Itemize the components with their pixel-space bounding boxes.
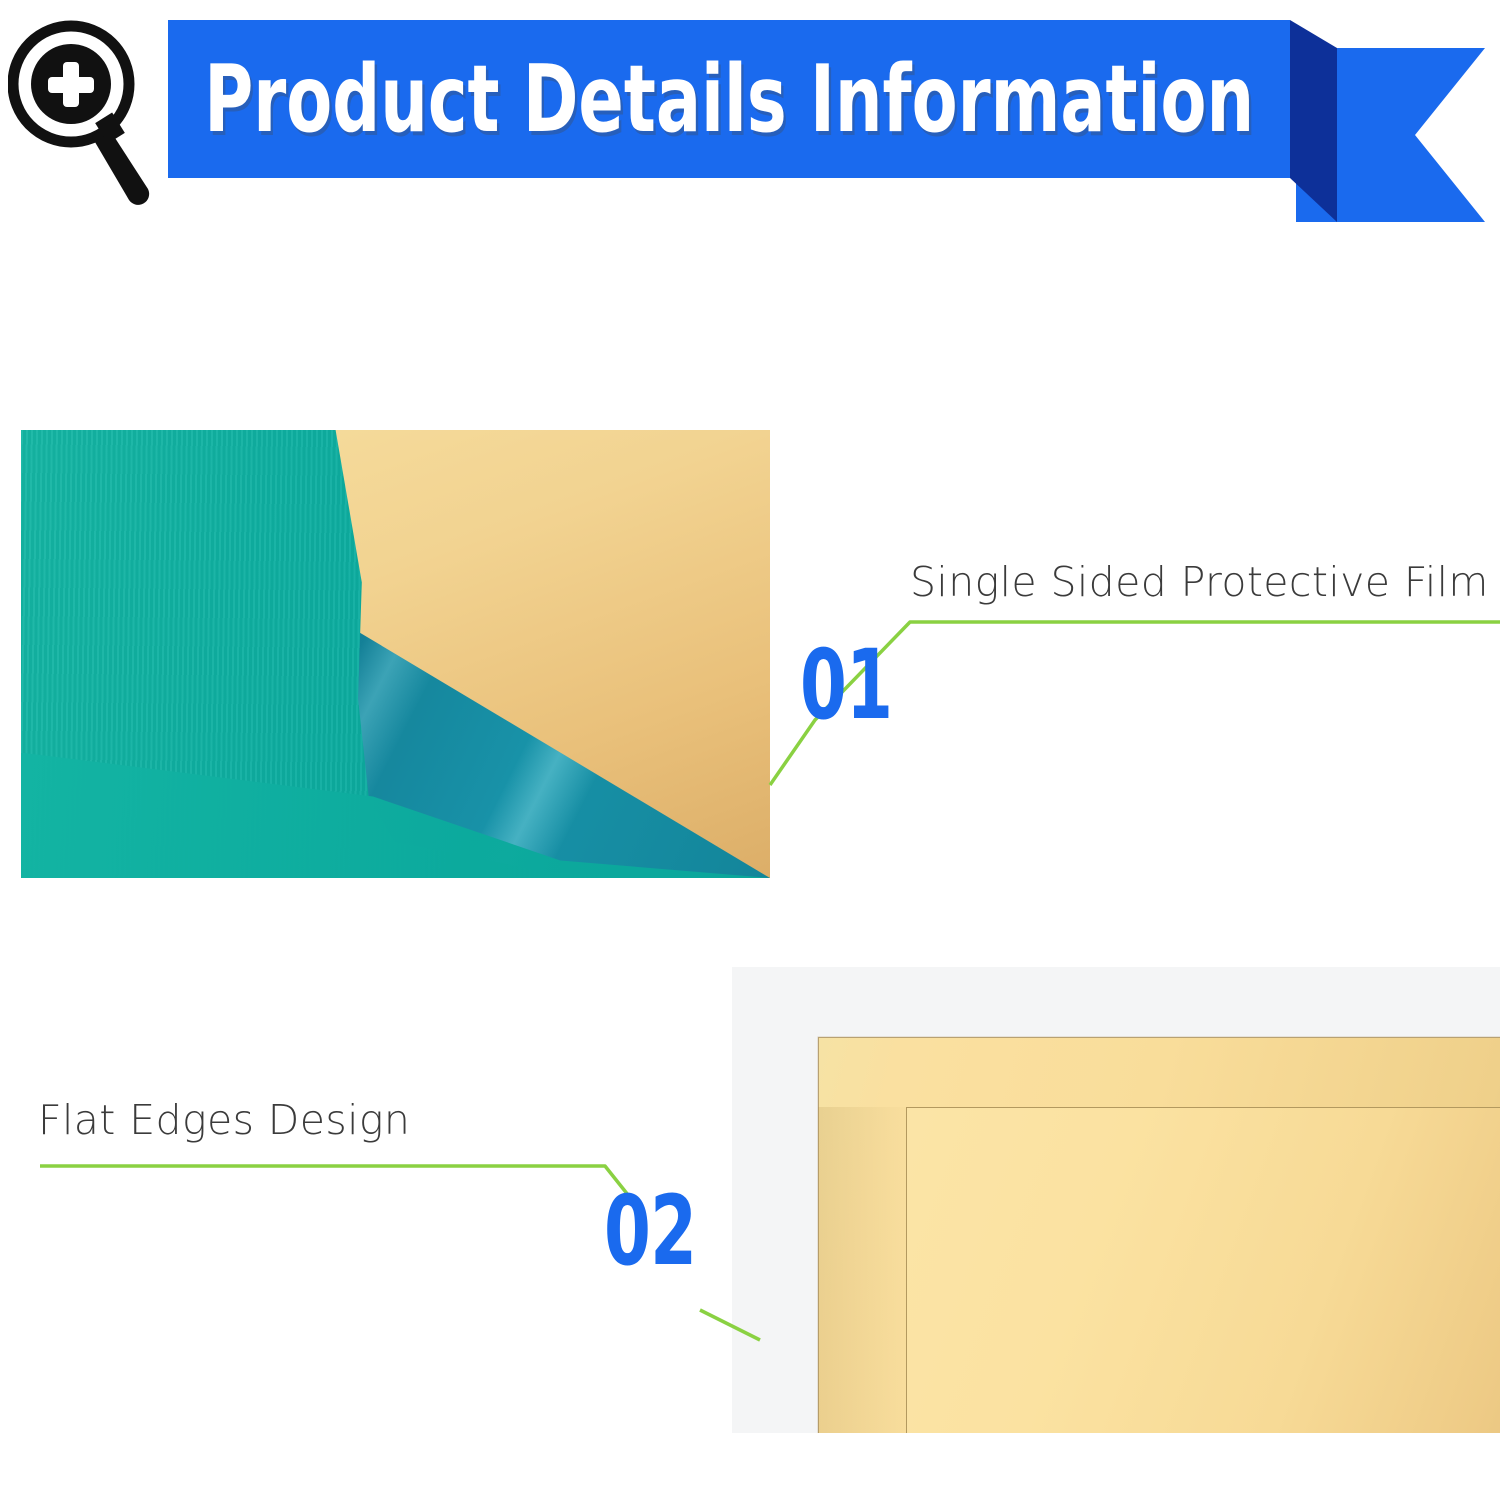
infographic-canvas: Product Details Information 01 Single Si… xyxy=(0,0,1500,1500)
gold-sheet-front xyxy=(906,1107,1500,1433)
callout-1-number: 01 xyxy=(800,637,892,733)
page-title-text: Product Details Information xyxy=(204,53,1254,146)
sheet-edge-shadow xyxy=(818,1107,907,1433)
page-title: Product Details Information xyxy=(168,20,1290,178)
flat-edges-sheets-photo xyxy=(732,967,1500,1433)
header-banner: Product Details Information xyxy=(0,0,1500,250)
callout-2-label: Flat Edges Design xyxy=(38,1096,410,1144)
callout-1-label: Single Sided Protective Film xyxy=(910,558,1489,606)
protective-film-peel-photo xyxy=(21,430,770,878)
callout-2-number: 02 xyxy=(604,1183,696,1279)
